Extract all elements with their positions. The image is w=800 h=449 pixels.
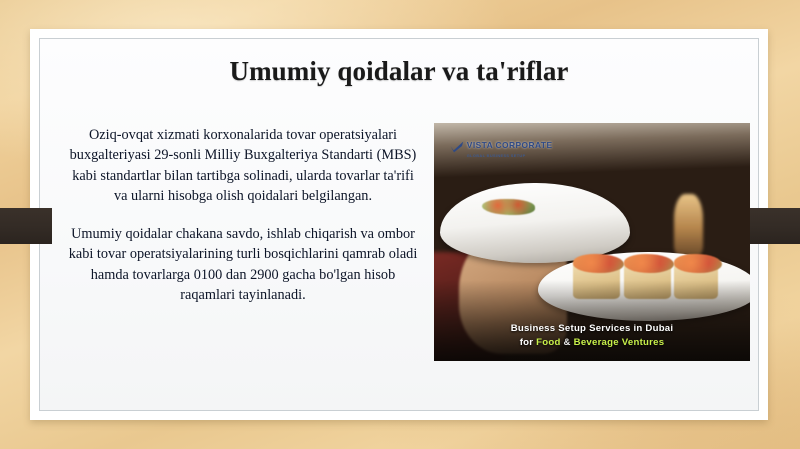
photo-caption: Business Setup Services in Dubai for Foo… xyxy=(434,322,750,349)
decorative-bar-left xyxy=(0,208,52,244)
checkmark-swoosh-icon xyxy=(450,141,464,153)
content-card: Umumiy qoidalar va ta'riflar Oziq-ovqat … xyxy=(30,29,768,420)
caption-highlight-food: Food xyxy=(536,337,560,348)
body-paragraph-1: Oziq-ovqat xizmati korxonalarida tovar o… xyxy=(68,125,418,206)
body-paragraph-2: Umumiy qoidalar chakana savdo, ishlab ch… xyxy=(68,224,418,305)
slide-canvas: Umumiy qoidalar va ta'riflar Oziq-ovqat … xyxy=(0,0,800,449)
photo-caption-line-2: for Food & Beverage Ventures xyxy=(434,336,750,350)
photo-caption-line-1: Business Setup Services in Dubai xyxy=(434,322,750,336)
vista-logo-sub-text: GLOBAL BUSINESS SETUP xyxy=(467,154,553,158)
caption-prefix: for xyxy=(520,337,536,348)
decorative-bar-right xyxy=(750,208,800,244)
food-service-photo: VISTA CORPORATE GLOBAL BUSINESS SETUP Bu… xyxy=(434,123,750,361)
vista-logo-main-text: VISTA CORPORATE xyxy=(467,140,553,150)
caption-highlight-beverage: Beverage Ventures xyxy=(574,337,665,348)
vista-logo-text-block: VISTA CORPORATE GLOBAL BUSINESS SETUP xyxy=(467,136,553,157)
body-text-column: Oziq-ovqat xizmati korxonalarida tovar o… xyxy=(68,125,418,305)
caption-ampersand: & xyxy=(561,337,574,348)
vista-corporate-logo: VISTA CORPORATE GLOBAL BUSINESS SETUP xyxy=(450,136,553,157)
page-title: Umumiy qoidalar va ta'riflar xyxy=(40,57,758,87)
content-card-inner: Umumiy qoidalar va ta'riflar Oziq-ovqat … xyxy=(39,38,759,411)
